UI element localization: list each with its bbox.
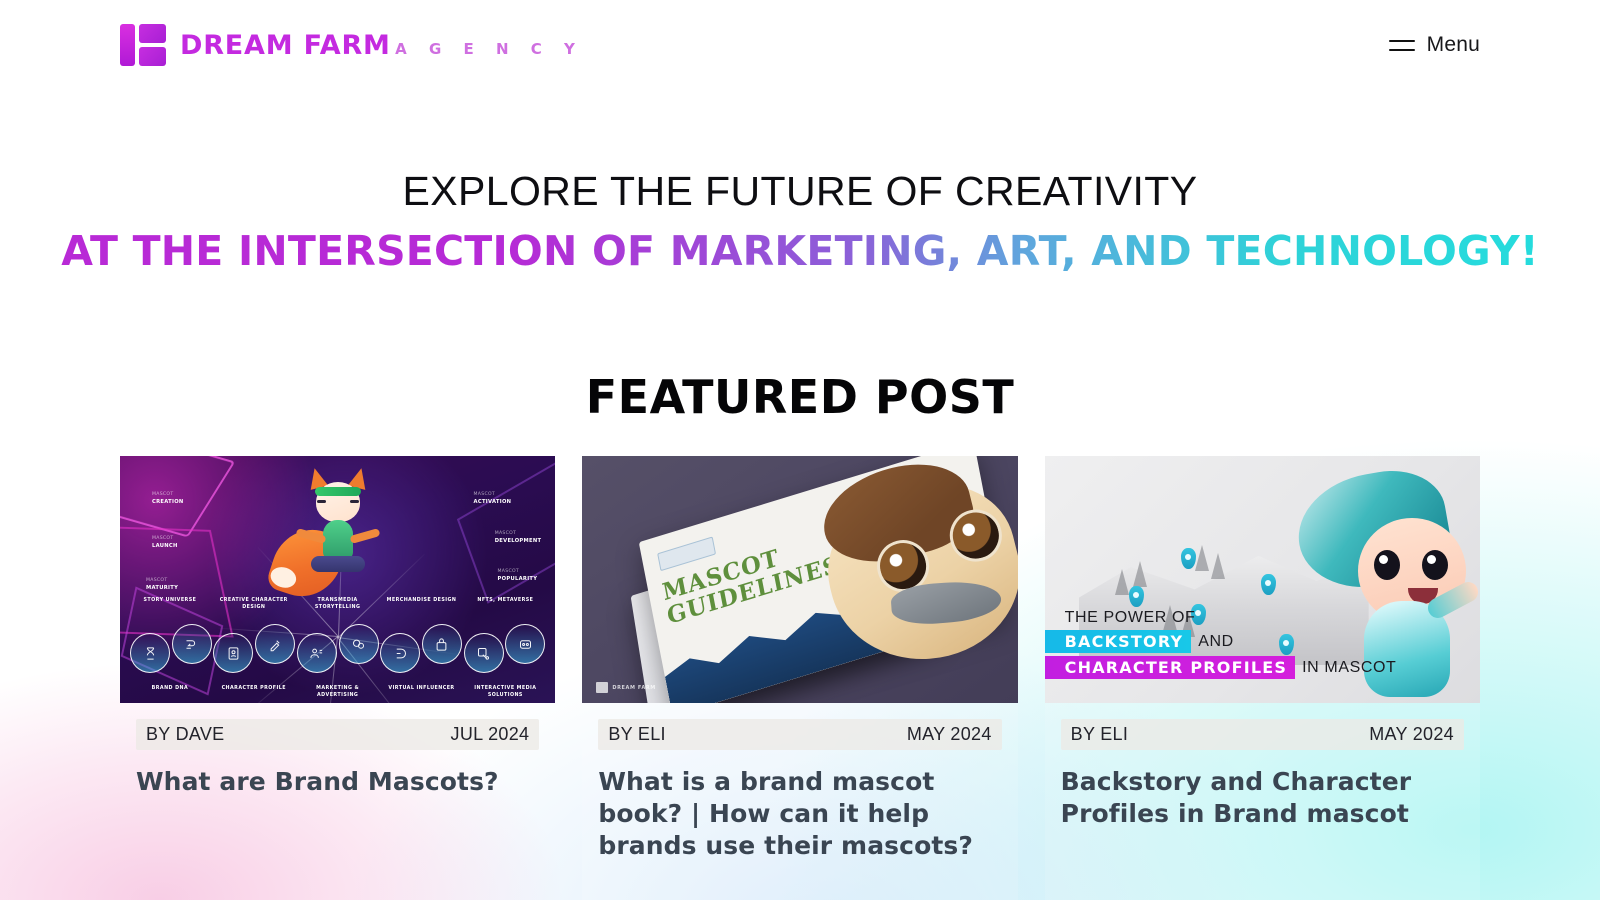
lifecycle-top-labels: STORY UNIVERSE CREATIVE CHARACTER DESIGN…: [120, 597, 555, 611]
post-meta: BY ELI MAY 2024: [598, 719, 1001, 750]
banner-highlight-backstory: BACKSTORY: [1045, 630, 1192, 653]
dream-farm-logo-icon: [120, 24, 166, 66]
hamburger-icon: [1389, 40, 1415, 51]
post-date: MAY 2024: [907, 724, 992, 745]
post-card-body: BY DAVE JUL 2024 What are Brand Mascots?: [120, 703, 555, 824]
post-title[interactable]: What are Brand Mascots?: [136, 766, 539, 798]
map-pin-icon: [1129, 586, 1144, 607]
callout-mascot-popularity: MASCOT POPULARITY: [498, 569, 538, 583]
banner-and: AND: [1191, 633, 1234, 651]
thumbnail-banner: THE POWER OF BACKSTORY AND CHARACTER PRO…: [1045, 609, 1397, 679]
callout-mascot-launch: MASCOT LAUNCH: [152, 536, 178, 550]
hero-line-2: AT THE INTERSECTION OF MARKETING, ART, A…: [0, 227, 1600, 275]
node-merchandise-design: [422, 624, 462, 664]
node-virtual-influencer: [380, 633, 420, 673]
dream-farm-watermark: DREAM FARM: [596, 682, 656, 693]
callout-mascot-activation: MASCOT ACTIVATION: [474, 492, 512, 506]
node-interactive-media: [464, 633, 504, 673]
post-date: JUL 2024: [451, 724, 530, 745]
banner-tail: IN MASCOT: [1295, 659, 1396, 677]
post-author: BY ELI: [1071, 724, 1129, 745]
map-pin-icon: [1261, 574, 1276, 595]
menu-button[interactable]: Menu: [1389, 33, 1480, 57]
node-brand-dna: [130, 633, 170, 673]
post-thumbnail-mascot-lifecycle[interactable]: MASCOT CREATION MASCOT ACTIVATION MASCOT…: [120, 456, 555, 703]
post-card-body: BY ELI MAY 2024 What is a brand mascot b…: [582, 703, 1017, 887]
node-marketing-advertising: [297, 633, 337, 673]
lifecycle-node-chain: [124, 619, 551, 673]
post-thumbnail-backstory-profiles[interactable]: THE POWER OF BACKSTORY AND CHARACTER PRO…: [1045, 456, 1480, 703]
brand-subtitle: A G E N C Y: [395, 40, 583, 58]
post-meta: BY DAVE JUL 2024: [136, 719, 539, 750]
lifecycle-bottom-labels: BRAND DNA CHARACTER PROFILE MARKETING & …: [120, 685, 555, 699]
hero-line-1: EXPLORE THE FUTURE OF CREATIVITY: [0, 168, 1600, 215]
post-author: BY DAVE: [146, 724, 224, 745]
post-author: BY ELI: [608, 724, 666, 745]
node-creative-character-design: [255, 624, 295, 664]
post-meta: BY ELI MAY 2024: [1061, 719, 1464, 750]
page-root: DREAM FARM A G E N C Y Menu EXPLORE THE …: [0, 0, 1600, 900]
node-story-universe: [172, 624, 212, 664]
menu-label: Menu: [1427, 33, 1480, 57]
callout-mascot-maturity: MASCOT MATURITY: [146, 578, 178, 592]
section-title: FEATURED POST: [0, 370, 1600, 424]
post-card-body: BY ELI MAY 2024 Backstory and Character …: [1045, 703, 1480, 856]
post-title[interactable]: Backstory and Character Profiles in Bran…: [1061, 766, 1464, 830]
post-date: MAY 2024: [1369, 724, 1454, 745]
map-pin-icon: [1181, 548, 1196, 569]
callout-mascot-creation: MASCOT CREATION: [152, 492, 184, 506]
site-header: DREAM FARM A G E N C Y Menu: [0, 0, 1600, 90]
node-transmedia-storytelling: [339, 624, 379, 664]
post-card[interactable]: THE POWER OF BACKSTORY AND CHARACTER PRO…: [1045, 456, 1480, 900]
node-character-profile: [213, 633, 253, 673]
featured-posts-grid: MASCOT CREATION MASCOT ACTIVATION MASCOT…: [120, 456, 1480, 900]
callout-mascot-development: MASCOT DEVELOPMENT: [495, 531, 542, 545]
post-card[interactable]: MASCOT GUIDELINES DREAM FARM BY ELI MAY …: [582, 456, 1017, 900]
post-card[interactable]: MASCOT CREATION MASCOT ACTIVATION MASCOT…: [120, 456, 555, 900]
brand-name: DREAM FARM: [180, 30, 391, 61]
banner-highlight-character-profiles: CHARACTER PROFILES: [1045, 656, 1295, 679]
hero-heading: EXPLORE THE FUTURE OF CREATIVITY AT THE …: [0, 168, 1600, 275]
brand-logo[interactable]: DREAM FARM A G E N C Y: [120, 24, 583, 66]
post-title[interactable]: What is a brand mascot book? | How can i…: [598, 766, 1001, 861]
post-thumbnail-mascot-guidelines[interactable]: MASCOT GUIDELINES DREAM FARM: [582, 456, 1017, 703]
node-nfts-metaverse: [505, 624, 545, 664]
banner-line-1: THE POWER OF: [1045, 609, 1196, 626]
